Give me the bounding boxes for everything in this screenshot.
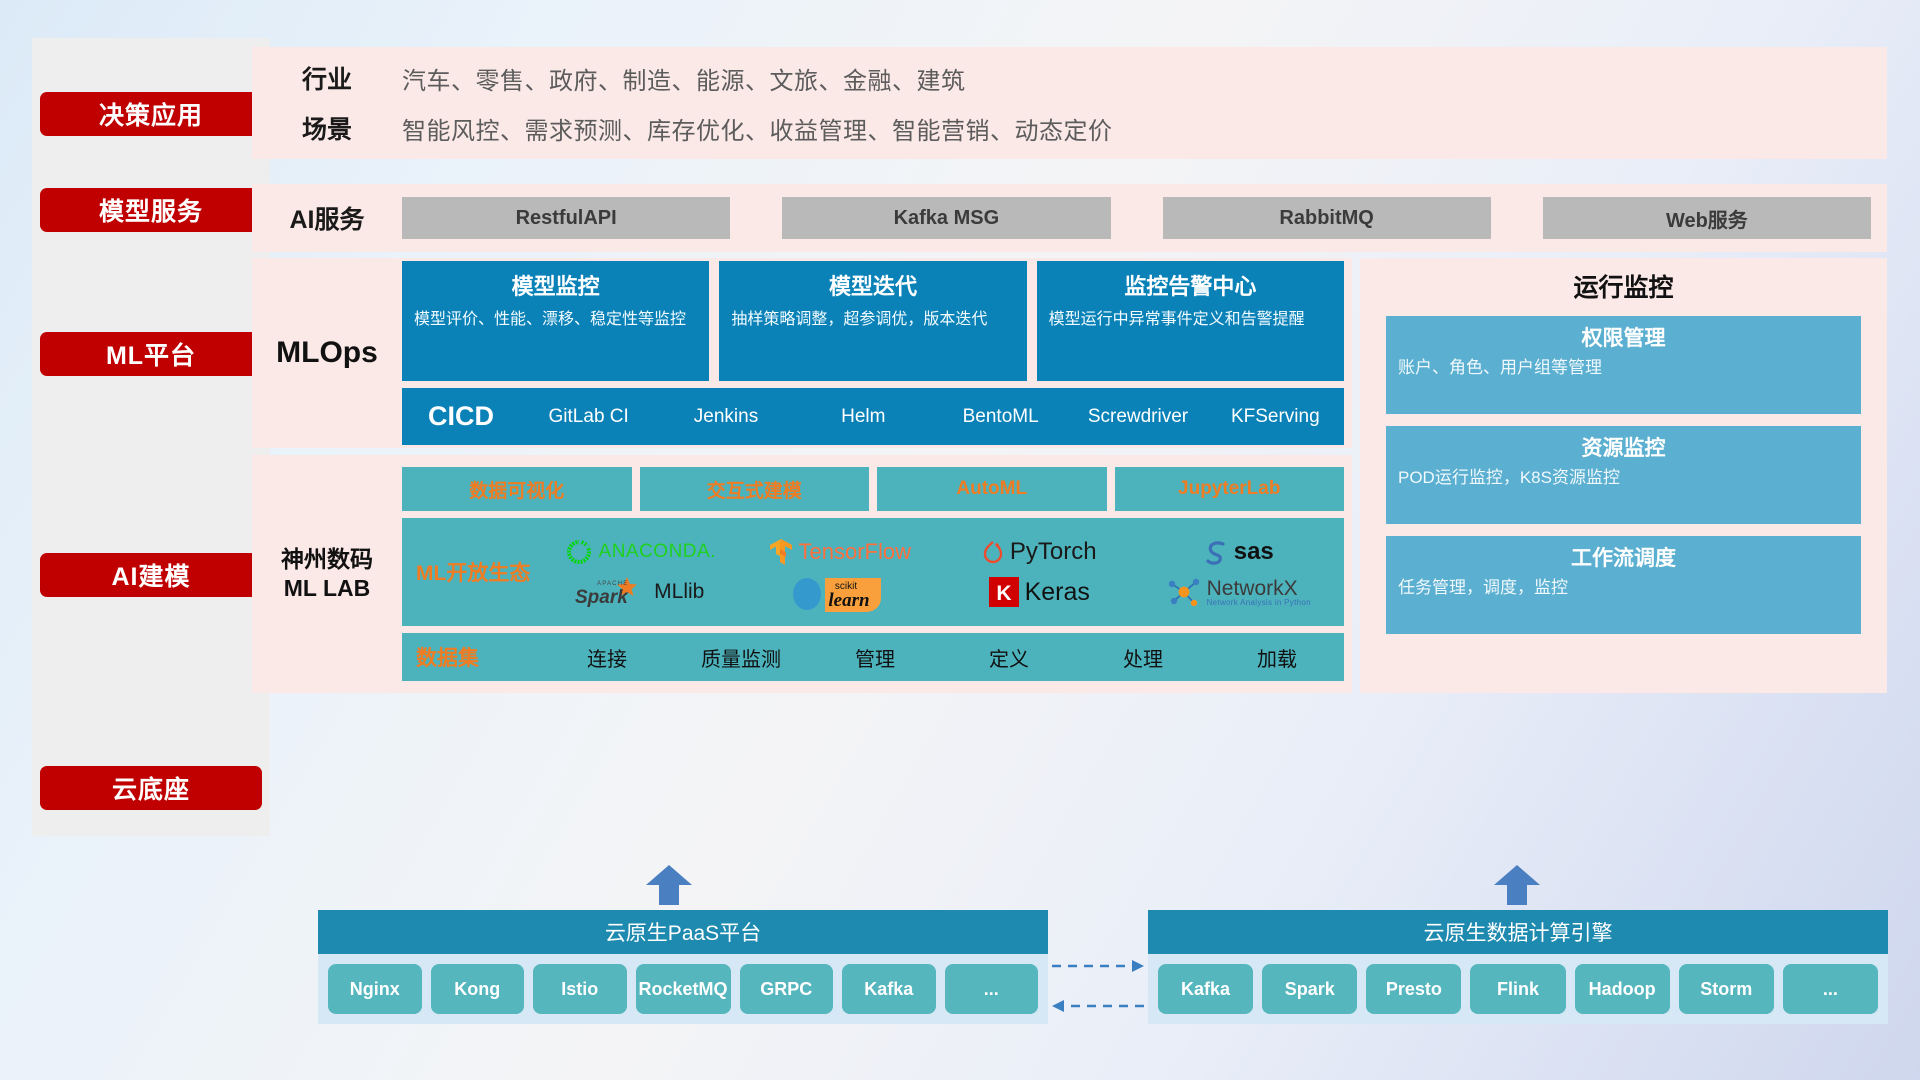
paas-chip-group: Nginx Kong Istio RocketMQ GRPC Kafka ... <box>318 954 1048 1024</box>
chip-storm[interactable]: Storm <box>1679 964 1774 1014</box>
chip-istio[interactable]: Istio <box>533 964 627 1014</box>
cicd-item-group: GitLab CI Jenkins Helm BentoML Screwdriv… <box>520 407 1344 426</box>
up-arrow-data-engine <box>1494 865 1540 905</box>
cicd-item-bentoml[interactable]: BentoML <box>932 407 1069 426</box>
industry-label: 行业 <box>252 60 402 96</box>
mlops-card-model-monitoring[interactable]: 模型监控 模型评价、性能、漂移、稳定性等监控 <box>402 261 709 381</box>
industry-row: 行业 汽车、零售、政府、制造、能源、文旅、金融、建筑 <box>252 53 1887 103</box>
anaconda-wordmark: ANACONDA. <box>599 541 716 563</box>
monitoring-card-permissions[interactable]: 权限管理 账户、角色、用户组等管理 <box>1386 316 1861 414</box>
keras-badge-icon: K <box>988 576 1020 608</box>
dataset-row: 数据集 连接 质量监测 管理 定义 处理 加载 <box>402 633 1344 681</box>
dataset-label: 数据集 <box>402 642 540 672</box>
dataset-item-process[interactable]: 处理 <box>1076 643 1210 672</box>
rail-item-label: 模型服务 <box>99 192 203 228</box>
cloud-native-paas-group: 云原生PaaS平台 Nginx Kong Istio RocketMQ GRPC… <box>318 910 1048 1024</box>
decision-apps-band: 行业 汽车、零售、政府、制造、能源、文旅、金融、建筑 场景 智能风控、需求预测、… <box>252 47 1887 159</box>
spark-mllib-logo[interactable]: APACHE Spark MLlib <box>575 575 704 609</box>
ml-lab-content: 数据可视化 交互式建模 AutoML JupyterLab ML开放生态 A <box>402 467 1352 681</box>
pytorch-flame-icon <box>981 538 1005 566</box>
chip-presto[interactable]: Presto <box>1366 964 1461 1014</box>
ecosystem-logo-grid: ANACONDA. TensorFlow <box>540 532 1344 612</box>
card-title: 权限管理 <box>1398 322 1849 352</box>
card-desc: 模型评价、性能、漂移、稳定性等监控 <box>414 309 697 331</box>
tensorflow-wordmark: TensorFlow <box>799 539 911 565</box>
apache-spark-mark-icon: APACHE Spark <box>575 575 649 609</box>
ml-open-ecosystem-label: ML开放生态 <box>402 557 540 587</box>
card-title: 工作流调度 <box>1398 542 1849 572</box>
chip-kafka[interactable]: Kafka <box>1158 964 1253 1014</box>
chip-nginx[interactable]: Nginx <box>328 964 422 1014</box>
ml-lab-band: 神州数码 ML LAB 数据可视化 交互式建模 AutoML JupyterLa… <box>252 455 1352 693</box>
rail-item-decision-apps[interactable]: 决策应用 <box>40 92 262 136</box>
cloud-native-data-engine-title: 云原生数据计算引擎 <box>1148 910 1888 954</box>
ai-service-box-rabbitmq[interactable]: RabbitMQ <box>1163 197 1491 239</box>
bidirectional-dashed-connector <box>1048 948 1148 1028</box>
svg-text:learn: learn <box>829 590 870 611</box>
sas-swirl-icon <box>1203 538 1229 566</box>
rail-item-ai-modeling[interactable]: AI建模 <box>40 553 262 597</box>
chip-rocketmq[interactable]: RocketMQ <box>636 964 731 1014</box>
rail-item-label: 云底座 <box>112 770 190 806</box>
ai-service-box-web-service[interactable]: Web服务 <box>1543 197 1871 239</box>
networkx-wordmark: NetworkX <box>1207 578 1311 599</box>
scene-label: 场景 <box>252 110 402 146</box>
industry-value: 汽车、零售、政府、制造、能源、文旅、金融、建筑 <box>402 61 966 96</box>
cloud-native-paas-title: 云原生PaaS平台 <box>318 910 1048 954</box>
up-arrow-paas <box>646 865 692 905</box>
left-rail-background <box>32 38 270 836</box>
mlops-card-group: 模型监控 模型评价、性能、漂移、稳定性等监控 模型迭代 抽样策略调整，超参调优，… <box>402 261 1344 381</box>
keras-wordmark: Keras <box>1025 578 1090 607</box>
runtime-monitoring-rail: 运行监控 权限管理 账户、角色、用户组等管理 资源监控 POD运行监控，K8S资… <box>1360 258 1887 693</box>
scikit-learn-logo[interactable]: scikit learn <box>791 572 887 612</box>
card-title: 模型迭代 <box>731 269 1014 301</box>
tab-automl[interactable]: AutoML <box>877 467 1107 511</box>
data-engine-chip-group: Kafka Spark Presto Flink Hadoop Storm ..… <box>1148 954 1888 1024</box>
runtime-monitoring-title: 运行监控 <box>1386 268 1861 304</box>
chip-grpc[interactable]: GRPC <box>740 964 834 1014</box>
scikit-learn-mark-icon: scikit learn <box>791 572 887 612</box>
tensorflow-mark-icon <box>768 537 794 567</box>
monitoring-card-resources[interactable]: 资源监控 POD运行监控，K8S资源监控 <box>1386 426 1861 524</box>
cicd-item-helm[interactable]: Helm <box>795 407 932 426</box>
cicd-item-jenkins[interactable]: Jenkins <box>657 407 794 426</box>
sas-logo[interactable]: sas <box>1203 538 1274 566</box>
ml-lab-label: 神州数码 ML LAB <box>252 545 402 603</box>
cloud-native-data-engine-group: 云原生数据计算引擎 Kafka Spark Presto Flink Hadoo… <box>1148 910 1888 1024</box>
box-label: RabbitMQ <box>1279 207 1373 230</box>
mlops-card-model-iteration[interactable]: 模型迭代 抽样策略调整，超参调优，版本迭代 <box>719 261 1026 381</box>
cicd-label: CICD <box>402 401 520 432</box>
card-desc: 模型运行中异常事件定义和告警提醒 <box>1049 309 1332 331</box>
cicd-bar: CICD GitLab CI Jenkins Helm BentoML Scre… <box>402 388 1344 445</box>
tab-jupyterlab[interactable]: JupyterLab <box>1115 467 1345 511</box>
cicd-item-gitlab-ci[interactable]: GitLab CI <box>520 407 657 426</box>
chip-kafka[interactable]: Kafka <box>842 964 936 1014</box>
dataset-item-connect[interactable]: 连接 <box>540 643 674 672</box>
sas-wordmark: sas <box>1234 538 1274 566</box>
box-label: Web服务 <box>1666 204 1748 233</box>
pytorch-logo[interactable]: PyTorch <box>981 538 1097 566</box>
chip-more[interactable]: ... <box>1783 964 1878 1014</box>
card-desc: POD运行监控，K8S资源监控 <box>1398 467 1849 490</box>
rail-item-model-service[interactable]: 模型服务 <box>40 188 262 232</box>
mllib-wordmark: MLlib <box>654 580 704 604</box>
dataset-item-group: 连接 质量监测 管理 定义 处理 加载 <box>540 643 1344 672</box>
diagram-canvas: 决策应用 模型服务 ML平台 AI建模 云底座 行业 汽车、零售、政府、制造、能… <box>0 0 1920 1080</box>
tab-interactive-modeling[interactable]: 交互式建模 <box>640 467 870 511</box>
card-title: 模型监控 <box>414 269 697 301</box>
tensorflow-logo[interactable]: TensorFlow <box>768 537 911 567</box>
card-desc: 任务管理，调度，监控 <box>1398 577 1849 600</box>
card-desc: 账户、角色、用户组等管理 <box>1398 357 1849 380</box>
ai-service-box-kafka-msg[interactable]: Kafka MSG <box>782 197 1110 239</box>
mlops-content: 模型监控 模型评价、性能、漂移、稳定性等监控 模型迭代 抽样策略调整，超参调优，… <box>402 261 1352 445</box>
ai-service-label: AI服务 <box>252 200 402 236</box>
cicd-item-screwdriver[interactable]: Screwdriver <box>1069 407 1206 426</box>
networkx-logo[interactable]: NetworkX Network Analysis in Python <box>1166 575 1311 609</box>
chip-flink[interactable]: Flink <box>1470 964 1565 1014</box>
scene-value: 智能风控、需求预测、库存优化、收益管理、智能营销、动态定价 <box>402 111 1113 146</box>
rail-item-label: AI建模 <box>111 557 190 593</box>
card-desc: 抽样策略调整，超参调优，版本迭代 <box>731 309 1014 331</box>
rail-item-cloud-base[interactable]: 云底座 <box>40 766 262 810</box>
mlops-band: MLOps 模型监控 模型评价、性能、漂移、稳定性等监控 模型迭代 抽样策略调整… <box>252 258 1352 448</box>
anaconda-ring-icon <box>564 537 594 567</box>
ml-lab-tab-group: 数据可视化 交互式建模 AutoML JupyterLab <box>402 467 1344 511</box>
chip-kong[interactable]: Kong <box>431 964 525 1014</box>
dataset-item-quality[interactable]: 质量监测 <box>674 643 808 672</box>
ai-service-box-group: RestfulAPI Kafka MSG RabbitMQ Web服务 <box>402 197 1887 239</box>
chip-spark[interactable]: Spark <box>1262 964 1357 1014</box>
networkx-tagline: Network Analysis in Python <box>1207 599 1311 607</box>
box-label: Kafka MSG <box>894 207 1000 230</box>
monitoring-card-workflow[interactable]: 工作流调度 任务管理，调度，监控 <box>1386 536 1861 634</box>
box-label: RestfulAPI <box>516 207 617 230</box>
keras-logo[interactable]: K Keras <box>988 576 1090 608</box>
ai-service-band: AI服务 RestfulAPI Kafka MSG RabbitMQ Web服务 <box>252 184 1887 252</box>
card-title: 监控告警中心 <box>1049 269 1332 301</box>
ai-service-box-restfulapi[interactable]: RestfulAPI <box>402 197 730 239</box>
ml-lab-label-line1: 神州数码 <box>252 545 402 574</box>
dataset-item-manage[interactable]: 管理 <box>808 643 942 672</box>
chip-hadoop[interactable]: Hadoop <box>1575 964 1670 1014</box>
rail-item-label: ML平台 <box>106 336 196 372</box>
dataset-item-define[interactable]: 定义 <box>942 643 1076 672</box>
anaconda-logo[interactable]: ANACONDA. <box>564 537 716 567</box>
ml-lab-label-line2: ML LAB <box>252 574 402 603</box>
ml-open-ecosystem-row: ML开放生态 ANACONDA. <box>402 518 1344 626</box>
cicd-item-kfserving[interactable]: KFServing <box>1207 407 1344 426</box>
mlops-label: MLOps <box>252 336 402 370</box>
pytorch-wordmark: PyTorch <box>1010 538 1097 566</box>
card-title: 资源监控 <box>1398 432 1849 462</box>
rail-item-label: 决策应用 <box>99 96 203 132</box>
networkx-graph-icon <box>1166 575 1202 609</box>
rail-item-ml-platform[interactable]: ML平台 <box>40 332 262 376</box>
chip-more[interactable]: ... <box>945 964 1039 1014</box>
svg-text:K: K <box>996 582 1011 605</box>
dataset-item-load[interactable]: 加载 <box>1210 643 1344 672</box>
scene-row: 场景 智能风控、需求预测、库存优化、收益管理、智能营销、动态定价 <box>252 103 1887 153</box>
mlops-card-alert-center[interactable]: 监控告警中心 模型运行中异常事件定义和告警提醒 <box>1037 261 1344 381</box>
tab-data-visualization[interactable]: 数据可视化 <box>402 467 632 511</box>
svg-text:Spark: Spark <box>575 587 629 608</box>
